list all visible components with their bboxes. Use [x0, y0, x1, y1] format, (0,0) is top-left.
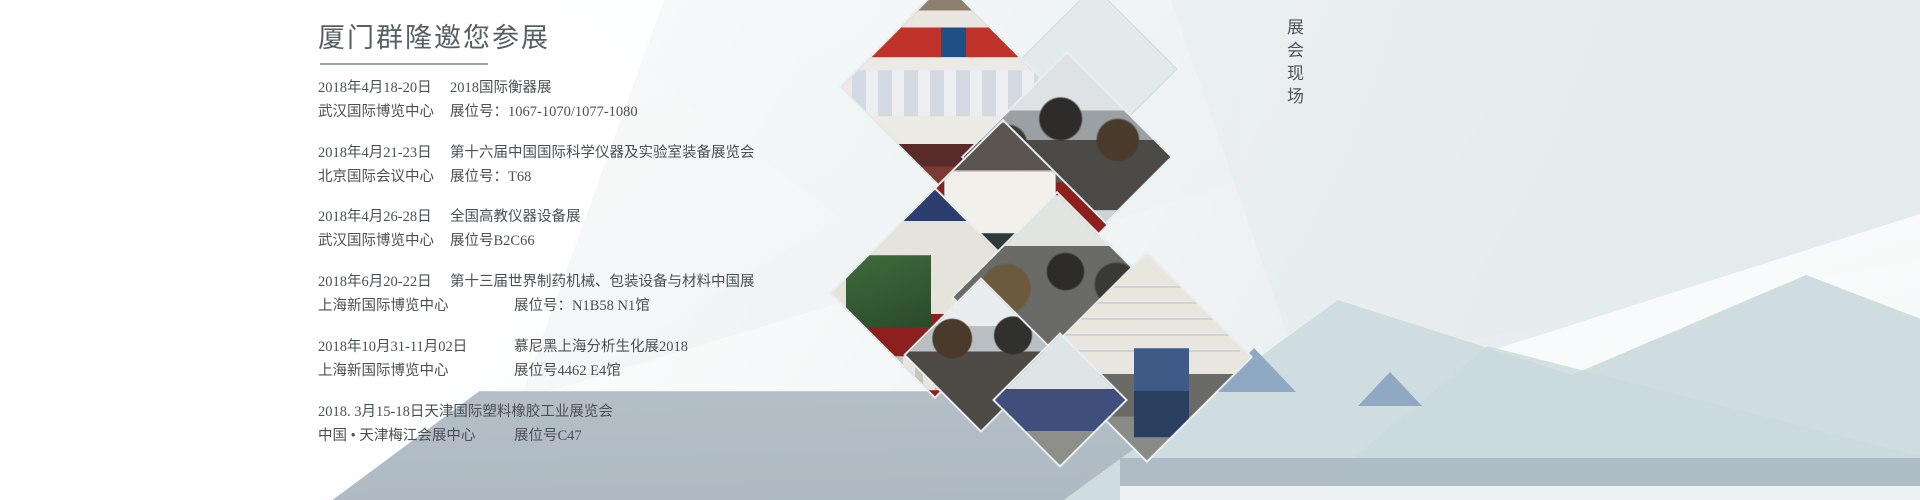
event-booth: 展位号C47	[514, 425, 582, 449]
event-date: 2018年4月21-23日	[318, 142, 450, 166]
event-venue: 中国 • 天津梅江会展中心	[318, 425, 514, 449]
event-venue: 武汉国际博览中心	[318, 230, 450, 254]
event-booth: 展位号：T68	[450, 166, 531, 190]
event-date: 2018年6月20-22日	[318, 271, 450, 295]
event-date: 2018年10月31-11月02日	[318, 336, 514, 360]
event-name: 全国高教仪器设备展	[450, 206, 581, 230]
event-venue: 上海新国际博览中心	[318, 360, 514, 384]
title-underline	[320, 63, 488, 65]
event-name: 第十六届中国国际科学仪器及实验室装备展览会	[450, 142, 755, 166]
event-date: 2018年4月18-20日	[318, 77, 450, 101]
event-venue: 北京国际会议中心	[318, 166, 450, 190]
event-name: 慕尼黑上海分析生化展2018	[514, 336, 688, 360]
photo-collage	[840, 0, 1260, 500]
vertical-label-text: 展会现场	[1281, 18, 1306, 110]
event-venue: 武汉国际博览中心	[318, 101, 450, 125]
event-booth: 展位号：1067-1070/1077-1080	[450, 101, 638, 125]
event-date: 2018年4月26-28日	[318, 206, 450, 230]
event-booth: 展位号B2C66	[450, 230, 535, 254]
triangle-accent-right-icon	[1358, 372, 1422, 406]
event-booth: 展位号：N1B58 N1馆	[514, 295, 650, 319]
event-booth: 展位号4462 E4馆	[514, 360, 621, 384]
event-name: 2018国际衡器展	[450, 77, 552, 101]
event-venue: 上海新国际博览中心	[318, 295, 514, 319]
event-name: 第十三届世界制药机械、包装设备与材料中国展	[450, 271, 755, 295]
